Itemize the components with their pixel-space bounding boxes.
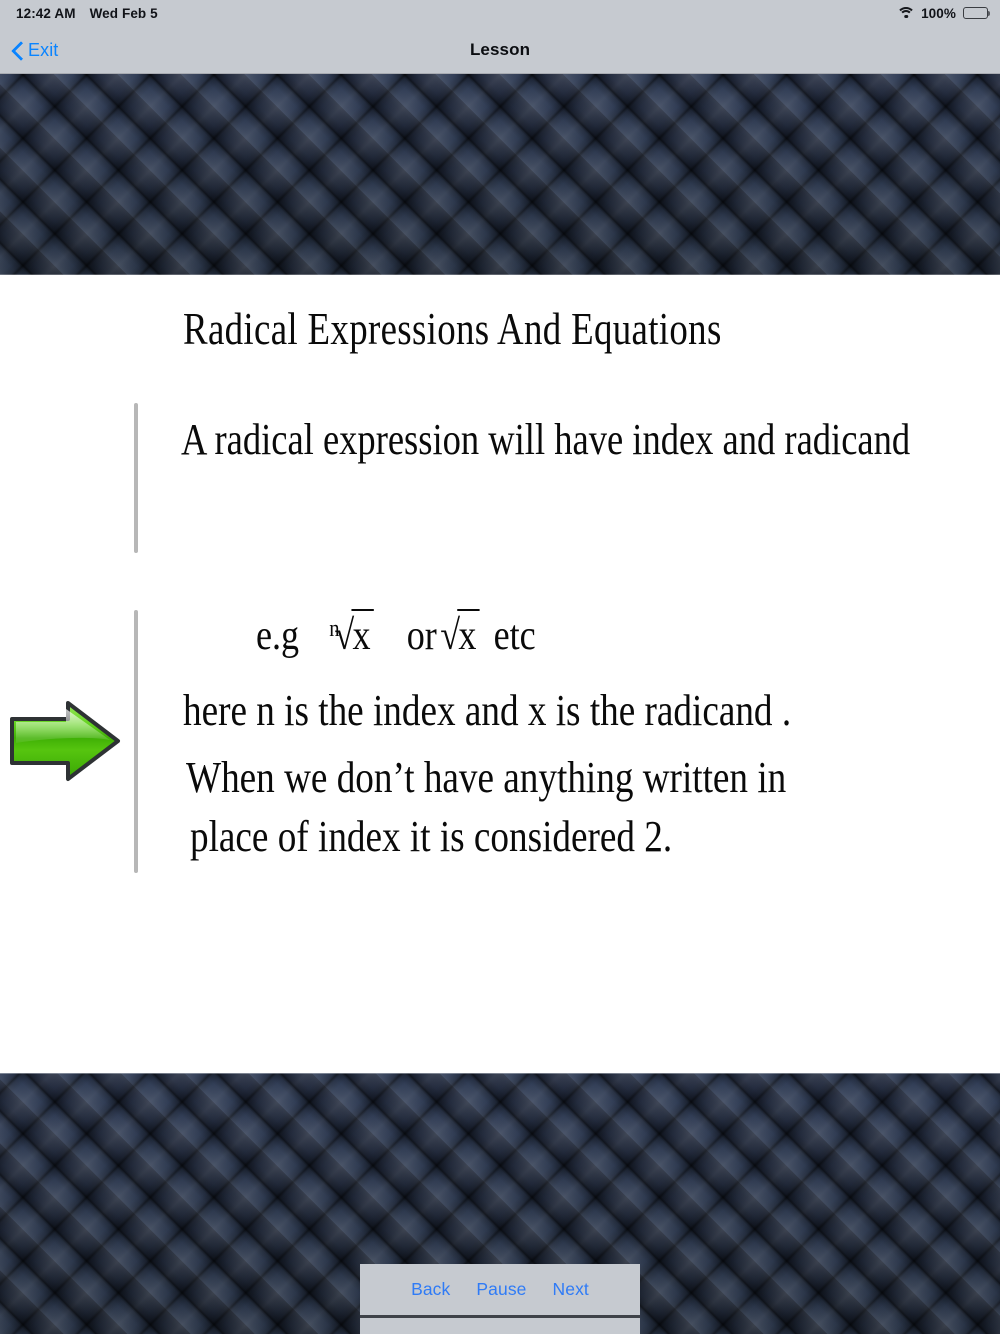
page-title: Lesson xyxy=(0,26,1000,74)
background-weave-top xyxy=(0,74,1000,275)
sqrt-glyph: √ xyxy=(334,613,354,659)
navigation-bar: Lesson Exit xyxy=(0,26,1000,74)
slide-title: Radical Expressions And Equations xyxy=(183,303,722,355)
square-root-radicand: x xyxy=(457,609,479,660)
nth-root-radicand: x xyxy=(352,609,374,660)
playback-secondary-panel[interactable] xyxy=(360,1315,640,1334)
example-prefix: e.g xyxy=(256,612,299,660)
lesson-slide: Radical Expressions And Equations A radi… xyxy=(0,275,1000,1073)
slide-line-3: When we don’t have anything written in xyxy=(186,750,1000,806)
pause-button[interactable]: Pause xyxy=(476,1279,526,1300)
back-button[interactable]: Back xyxy=(411,1279,450,1300)
example-suffix: etc xyxy=(494,612,536,660)
example-connector: or xyxy=(407,612,437,660)
green-right-arrow-icon xyxy=(6,697,124,785)
playback-control-panel: Back Pause Next xyxy=(360,1264,640,1315)
chevron-left-icon xyxy=(12,41,23,60)
sqrt-glyph: √ xyxy=(440,613,460,659)
square-root-expression: √x xyxy=(440,609,480,660)
radical-sign: √ xyxy=(440,612,460,660)
status-bar-left: 12:42 AM Wed Feb 5 xyxy=(16,6,158,21)
example-expression-line: e.g n√x or √x etc xyxy=(256,609,536,660)
exit-button[interactable]: Exit xyxy=(12,26,58,74)
battery-percent-label: 100% xyxy=(921,6,956,21)
slide-line-2: here n is the index and x is the radican… xyxy=(183,683,1000,739)
wifi-icon xyxy=(898,7,914,19)
nth-root-expression: n√x xyxy=(325,609,374,660)
exit-button-label: Exit xyxy=(28,40,58,61)
status-bar: 12:42 AM Wed Feb 5 100% xyxy=(0,0,1000,26)
radical-sign: √ xyxy=(334,612,354,660)
status-time: 12:42 AM xyxy=(16,6,76,21)
battery-full-icon xyxy=(963,7,988,19)
slide-paragraph-1: A radical expression will have index and… xyxy=(181,411,978,469)
next-button[interactable]: Next xyxy=(553,1279,589,1300)
status-date: Wed Feb 5 xyxy=(90,6,158,21)
paragraph-rule-1 xyxy=(134,403,138,553)
status-bar-right: 100% xyxy=(898,0,988,26)
paragraph-rule-2 xyxy=(134,610,138,873)
slide-line-4: place of index it is considered 2. xyxy=(190,809,1000,865)
